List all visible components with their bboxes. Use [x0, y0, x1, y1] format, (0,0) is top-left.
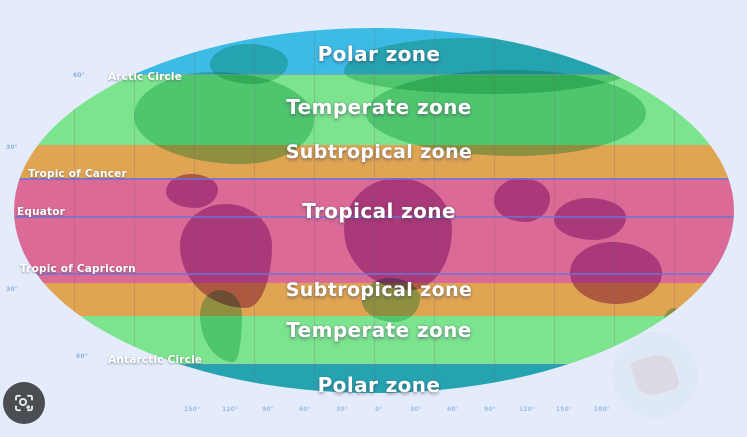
meridian: [494, 28, 495, 393]
longitude-tick: 90°: [262, 406, 274, 413]
latitude-tick: 60°: [73, 72, 85, 79]
longitude-tick: 120°: [519, 406, 535, 413]
zone-label-tropical: Tropical zone: [302, 199, 456, 223]
meridian: [674, 28, 675, 393]
zone-label-subtropical-south: Subtropical zone: [286, 279, 473, 301]
longitude-tick: 0°: [375, 406, 383, 413]
longitude-tick: 150°: [556, 406, 572, 413]
landmass-new-zealand: [662, 308, 688, 346]
boundary-label-equator: Equator: [17, 206, 65, 218]
meridian: [614, 28, 615, 393]
latitude-tick: 30°: [6, 286, 18, 293]
google-lens-camera-icon: [12, 391, 36, 415]
image-viewer: Polar zone Temperate zone Subtropical zo…: [0, 0, 747, 437]
zone-label-subtropical-north: Subtropical zone: [286, 141, 473, 163]
boundary-label-arctic-circle: Arctic Circle: [108, 71, 182, 83]
longitude-tick: 120°: [222, 406, 238, 413]
zone-label-polar-north: Polar zone: [318, 42, 441, 66]
longitude-tick: 60°: [447, 406, 459, 413]
meridian: [194, 28, 195, 393]
meridian: [254, 28, 255, 393]
longitude-tick: 90°: [484, 406, 496, 413]
meridian: [554, 28, 555, 393]
boundary-label-tropic-of-capricorn: Tropic of Capricorn: [20, 263, 136, 275]
google-lens-button[interactable]: [3, 382, 45, 424]
meridian: [74, 28, 75, 393]
boundary-label-tropic-of-cancer: Tropic of Cancer: [28, 168, 127, 180]
longitude-tick: 30°: [410, 406, 422, 413]
climate-zones-map: Polar zone Temperate zone Subtropical zo…: [14, 28, 734, 408]
longitude-tick: 60°: [299, 406, 311, 413]
longitude-tick: 30°: [336, 406, 348, 413]
boundary-label-antarctic-circle: Antarctic Circle: [108, 354, 202, 366]
zone-label-temperate-north: Temperate zone: [286, 95, 472, 119]
zone-label-temperate-south: Temperate zone: [286, 318, 472, 342]
latitude-tick: 30°: [6, 144, 18, 151]
longitude-tick: 150°: [184, 406, 200, 413]
landmass-southeast-asia: [554, 198, 626, 240]
latitude-tick: 60°: [76, 353, 88, 360]
zone-label-polar-south: Polar zone: [318, 373, 441, 397]
longitude-tick: 180°: [594, 406, 610, 413]
